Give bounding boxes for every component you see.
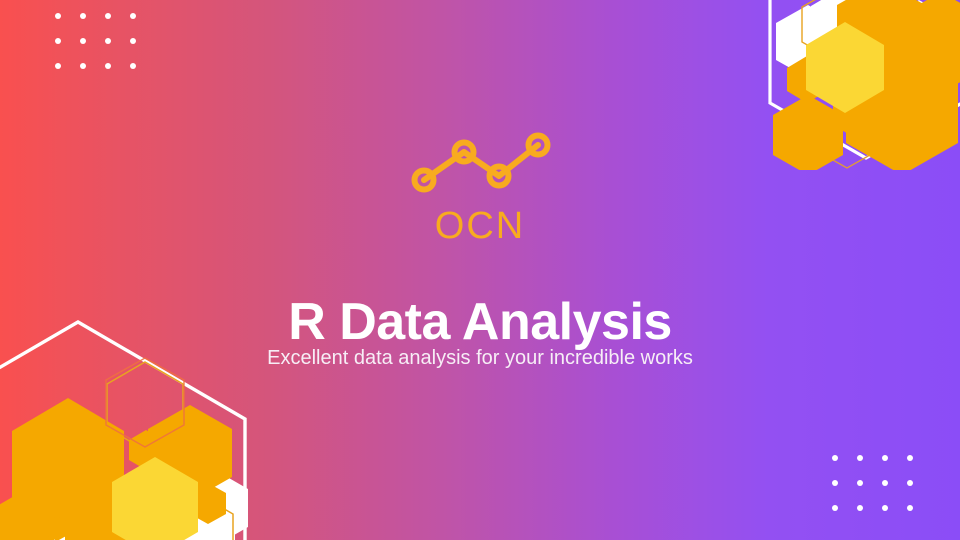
hexagon-outline-gold xyxy=(908,8,942,48)
hexagon-orange xyxy=(837,0,925,81)
dot-grid-bottom-right xyxy=(832,455,913,511)
dot xyxy=(832,455,838,461)
hexagon-orange xyxy=(773,95,843,175)
hexagon-orange xyxy=(910,16,932,41)
hexagon-white xyxy=(115,460,235,540)
dot xyxy=(882,455,888,461)
hexagon-orange xyxy=(833,95,867,135)
hexagon-cluster-top-right xyxy=(0,0,960,540)
dot xyxy=(832,505,838,511)
hexagon-orange xyxy=(787,56,827,103)
dot xyxy=(130,13,136,19)
dot xyxy=(55,63,61,69)
dot xyxy=(55,38,61,44)
hexagon-outline-white xyxy=(770,0,960,158)
hexagon-outline-gold xyxy=(808,78,886,168)
hexagon-outline-gold xyxy=(802,0,862,59)
hexagon-outline-gold xyxy=(28,487,84,540)
dot xyxy=(907,480,913,486)
dot xyxy=(130,63,136,69)
hexagon-orange xyxy=(846,45,958,175)
dot xyxy=(907,455,913,461)
dot xyxy=(105,38,111,44)
hexagon-orange xyxy=(148,405,232,501)
dot xyxy=(832,480,838,486)
dot xyxy=(105,63,111,69)
hexagon-white xyxy=(891,0,947,65)
hexagon-yellow xyxy=(112,457,198,540)
hexagon-white xyxy=(811,0,879,65)
hexagon-outline-gold xyxy=(107,362,183,450)
dot xyxy=(105,13,111,19)
dot xyxy=(857,480,863,486)
dot xyxy=(882,505,888,511)
hexagon-white xyxy=(18,470,98,540)
hexagon-orange xyxy=(0,495,54,540)
dot xyxy=(55,13,61,19)
hexagon-orange xyxy=(12,398,124,530)
dot xyxy=(907,505,913,511)
brand-name: OCN xyxy=(0,204,960,248)
hexagon-outline-gold xyxy=(167,495,233,540)
hexagon-orange xyxy=(46,516,68,540)
dot xyxy=(882,480,888,486)
presentation-slide: OCN R Data Analysis Excellent data analy… xyxy=(0,0,960,540)
dot xyxy=(857,455,863,461)
hexagon-orange xyxy=(65,500,155,540)
hexagon-orange xyxy=(897,0,960,93)
hexagon-white xyxy=(182,470,248,540)
dot xyxy=(80,38,86,44)
hexagon-orange xyxy=(129,430,163,470)
hexagon-white xyxy=(776,5,840,78)
line-chart-logo-icon xyxy=(406,128,554,198)
slide-subtitle: Excellent data analysis for your incredi… xyxy=(0,344,960,372)
hexagon-yellow xyxy=(806,22,884,113)
dot-grid-top-left xyxy=(55,13,136,69)
dot xyxy=(857,505,863,511)
dot xyxy=(80,63,86,69)
hexagon-orange xyxy=(190,483,226,524)
hexagon-white xyxy=(912,36,950,80)
dot xyxy=(130,38,136,44)
dot xyxy=(80,13,86,19)
